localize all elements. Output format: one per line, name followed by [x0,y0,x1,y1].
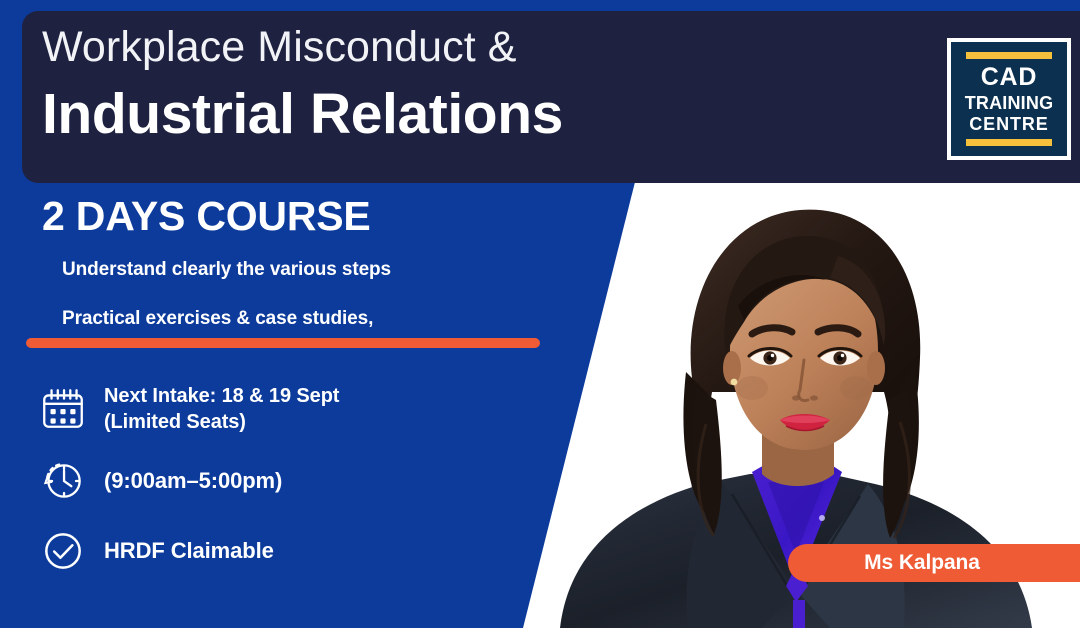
course-details-list: Next Intake: 18 & 19 Sept (Limited Seats… [38,378,508,582]
course-bullet-2: Practical exercises & case studies, [62,308,532,330]
list-item-hrdf-claimable: HRDF Claimable [38,520,508,582]
course-bullets: Understand clearly the various steps Pra… [62,259,532,330]
page-title: Workplace Misconduct & Industrial Relati… [42,26,742,147]
next-intake-line-1: Next Intake: 18 & 19 Sept [104,383,339,409]
course-duration-heading: 2 DAYS COURSE [42,193,371,240]
logo-text-block: CAD TRAINING CENTRE [965,65,1054,133]
trainer-name-label: Ms Kalpana [864,551,980,575]
title-line-2: Industrial Relations [42,83,742,147]
orange-divider-rule [26,338,540,348]
title-line-1: Workplace Misconduct & [42,26,742,69]
trainer-name-badge: Ms Kalpana [788,544,1080,582]
next-intake-text: Next Intake: 18 & 19 Sept (Limited Seats… [104,383,339,435]
cad-training-centre-logo: CAD TRAINING CENTRE [947,38,1071,160]
banner-header: Workplace Misconduct & Industrial Relati… [22,11,1080,183]
clock-icon [38,456,88,506]
logo-yellow-bar-top [966,52,1052,59]
check-circle-icon [38,526,88,576]
calendar-icon [38,384,88,434]
promo-banner: Workplace Misconduct & Industrial Relati… [0,0,1080,628]
course-time-text: (9:00am–5:00pm) [104,467,282,496]
logo-line-cad: CAD [981,65,1038,90]
logo-line-centre: CENTRE [969,115,1048,133]
hrdf-claimable-text: HRDF Claimable [104,537,274,566]
logo-yellow-bar-bottom [966,139,1052,146]
next-intake-line-2: (Limited Seats) [104,409,339,435]
list-item-next-intake: Next Intake: 18 & 19 Sept (Limited Seats… [38,378,508,440]
list-item-course-time: (9:00am–5:00pm) [38,446,508,516]
course-bullet-1: Understand clearly the various steps [62,259,532,281]
logo-line-training: TRAINING [965,94,1054,112]
